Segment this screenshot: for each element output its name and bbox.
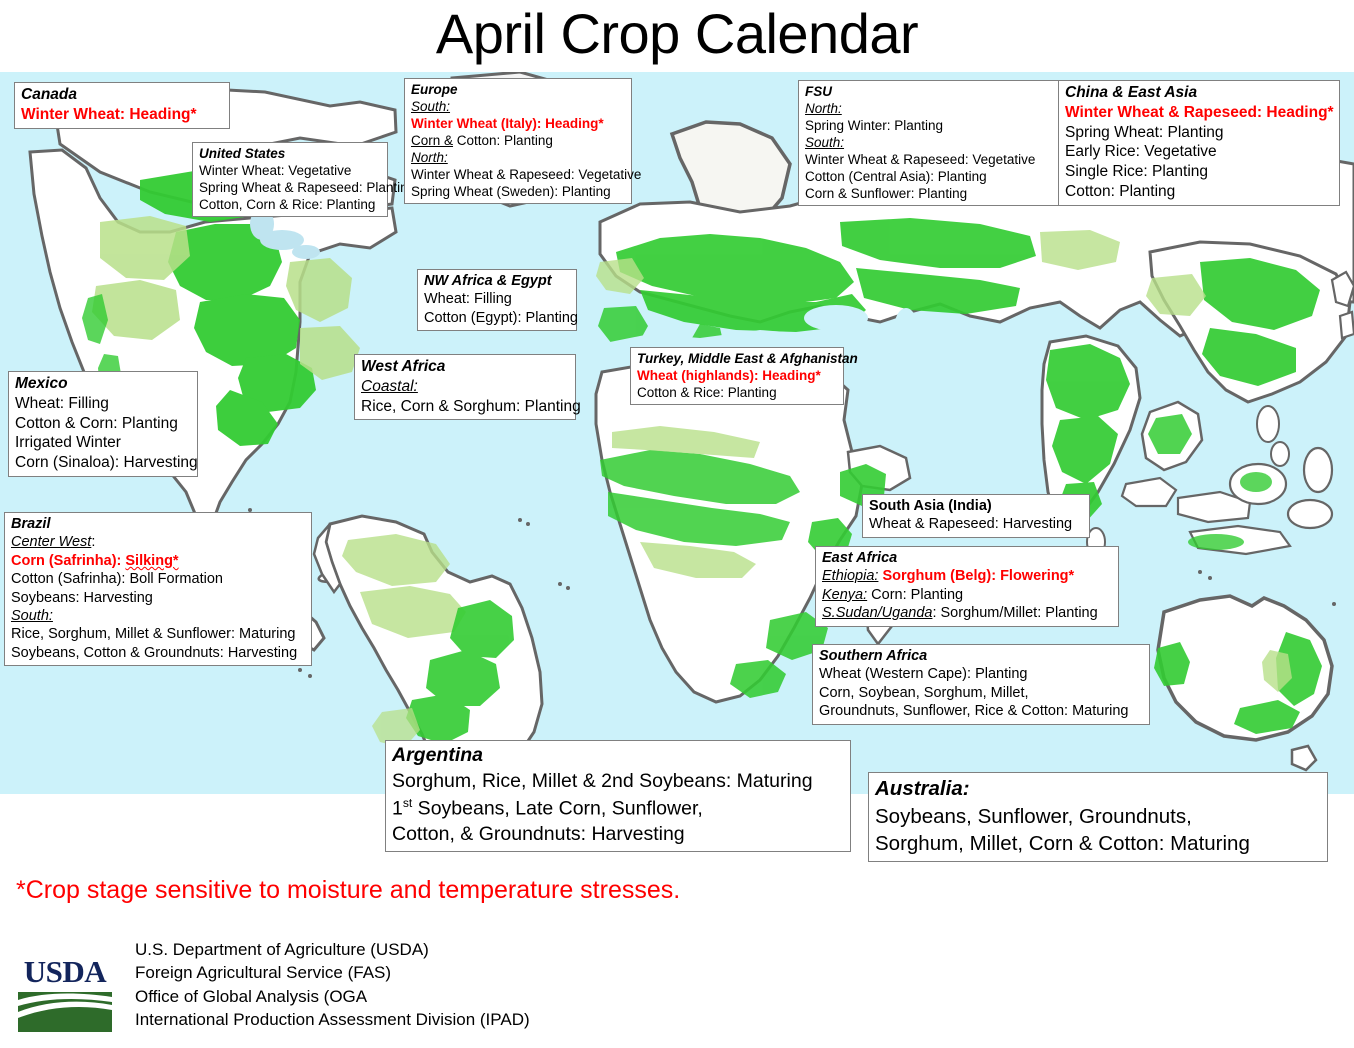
black-sea [804, 305, 868, 331]
callout-mexico-line-1: Cotton & Corn: Planting [15, 414, 191, 434]
credit-line-1: U.S. Department of Agriculture (USDA) [135, 938, 530, 961]
callout-south-asia-india: South Asia (India) Wheat & Rapeseed: Har… [862, 494, 1090, 538]
callout-south-asia-line-0: Wheat & Rapeseed: Harvesting [869, 515, 1083, 533]
credit-line-4: International Production Assessment Divi… [135, 1008, 530, 1031]
callout-mexico: Mexico Wheat: Filling Cotton & Corn: Pla… [8, 371, 198, 477]
caspian-sea [893, 308, 919, 360]
callout-argentina-line-1-rest: Soybeans, Late Corn, Sunflower, [412, 797, 703, 819]
credit-line-2: Foreign Agricultural Service (FAS) [135, 961, 530, 984]
callout-fsu-header: FSU [805, 83, 1053, 100]
callout-fsu-line-4: Cotton (Central Asia): Planting [805, 168, 1053, 185]
callout-brazil: Brazil Center West: Corn (Safrinha): Sil… [4, 512, 312, 666]
callout-fsu-line-3: Winter Wheat & Rapeseed: Vegetative [805, 151, 1053, 168]
callout-south-asia-header: South Asia (India) [869, 497, 1083, 515]
callout-mexico-line-3: Corn (Sinaloa): Harvesting [15, 453, 191, 473]
callout-southern-africa: Southern Africa Wheat (Western Cape): Pl… [812, 644, 1150, 725]
callout-argentina-line-1: 1st Soybeans, Late Corn, Sunflower, [392, 795, 844, 822]
agency-credit: U.S. Department of Agriculture (USDA) Fo… [135, 938, 530, 1032]
callout-fsu-line-1: Spring Winter: Planting [805, 117, 1053, 134]
callout-australia-line-1: Sorghum, Millet, Corn & Cotton: Maturing [875, 830, 1321, 858]
callout-europe-line-0: South: [411, 98, 625, 115]
callout-turkey-middle-east-afghanistan: Turkey, Middle East & Afghanistan Wheat … [630, 347, 844, 405]
callout-southern-africa-line-0: Wheat (Western Cape): Planting [819, 665, 1143, 683]
callout-west-africa-line-0: Coastal: [361, 377, 569, 397]
callout-turkey-line-0: Wheat (highlands): Heading* [637, 367, 837, 384]
callout-mexico-header: Mexico [15, 374, 191, 394]
callout-brazil-line-0-rest: : [91, 534, 95, 550]
callout-canada-line-0: Winter Wheat: Heading* [21, 105, 223, 125]
callout-east-africa: East Africa Ethiopia: Sorghum (Belg): Fl… [815, 546, 1119, 627]
callout-argentina-line-0: Sorghum, Rice, Millet & 2nd Soybeans: Ma… [392, 769, 844, 795]
footnote-asterisk-note: *Crop stage sensitive to moisture and te… [16, 876, 680, 905]
callout-canada: Canada Winter Wheat: Heading* [14, 82, 230, 129]
callout-australia-line-0: Soybeans, Sunflower, Groundnuts, [875, 803, 1321, 831]
callout-argentina-line-2: Cotton, & Groundnuts: Harvesting [392, 822, 844, 848]
callout-west-africa-header: West Africa [361, 357, 569, 377]
callout-east-africa-line-0: Ethiopia: Sorghum (Belg): Flowering* [822, 567, 1112, 585]
callout-nw-africa-egypt: NW Africa & Egypt Wheat: Filling Cotton … [417, 269, 577, 331]
callout-brazil-line-4: South: [11, 607, 305, 625]
callout-east-africa-line-2-rest: : Sorghum/Millet: Planting [932, 605, 1097, 621]
callout-east-africa-line-0-rest: Sorghum (Belg): Flowering* [878, 568, 1074, 584]
callout-united-states-line-0: Winter Wheat: Vegetative [199, 162, 381, 179]
callout-china-east-asia-header: China & East Asia [1065, 83, 1333, 103]
callout-brazil-header: Brazil [11, 515, 305, 533]
callout-united-states-line-2: Cotton, Corn & Rice: Planting [199, 196, 381, 213]
usda-logo-text: USDA [24, 954, 108, 989]
callout-china-east-asia: China & East Asia Winter Wheat & Rapesee… [1058, 80, 1340, 206]
callout-nw-africa-egypt-header: NW Africa & Egypt [424, 272, 570, 290]
callout-europe-header: Europe [411, 81, 625, 98]
callout-turkey-line-1: Cotton & Rice: Planting [637, 384, 837, 401]
callout-east-africa-line-2: S.Sudan/Uganda: Sorghum/Millet: Planting [822, 604, 1112, 622]
usda-logo: USDA [16, 948, 114, 1034]
callout-canada-header: Canada [21, 85, 223, 105]
callout-east-africa-line-0-lead: Ethiopia: [822, 568, 878, 584]
callout-china-east-asia-line-1: Spring Wheat: Planting [1065, 123, 1333, 143]
callout-east-africa-line-2-lead: S.Sudan/Uganda [822, 605, 932, 621]
callout-brazil-line-2: Cotton (Safrinha): Boll Formation [11, 570, 305, 588]
callout-mexico-line-0: Wheat: Filling [15, 394, 191, 414]
callout-united-states-line-1: Spring Wheat & Rapeseed: Planting [199, 179, 381, 196]
callout-europe-line-1: Winter Wheat (Italy): Heading* [411, 115, 625, 132]
callout-china-east-asia-line-0: Winter Wheat & Rapeseed: Heading* [1065, 103, 1333, 123]
callout-china-east-asia-line-2: Early Rice: Vegetative [1065, 142, 1333, 162]
callout-brazil-line-0-lead: Center West [11, 534, 91, 550]
callout-argentina-header: Argentina [392, 743, 844, 769]
callout-europe-line-2-rest: Cotton: Planting [453, 133, 553, 148]
callout-australia-header: Australia: [875, 775, 1321, 803]
callout-brazil-line-0: Center West: [11, 533, 305, 551]
callout-argentina-line-1-sup: st [403, 796, 412, 810]
callout-nw-africa-egypt-line-0: Wheat: Filling [424, 290, 570, 308]
callout-brazil-line-1: Corn (Safrinha): Silking* [11, 552, 305, 570]
callout-east-africa-line-1-lead: Kenya: [822, 587, 867, 603]
callout-southern-africa-line-1: Corn, Soybean, Sorghum, Millet, [819, 684, 1143, 702]
callout-argentina-line-1-lead: 1 [392, 797, 403, 819]
credit-line-3: Office of Global Analysis (OGA [135, 985, 530, 1008]
callout-europe-line-4: Winter Wheat & Rapeseed: Vegetative [411, 166, 625, 183]
callout-brazil-line-1-lead: Corn (Safrinha): [11, 553, 125, 569]
callout-brazil-line-5: Rice, Sorghum, Millet & Sunflower: Matur… [11, 625, 305, 643]
callout-east-africa-header: East Africa [822, 549, 1112, 567]
callout-brazil-line-1-rest: Silking* [125, 553, 178, 569]
callout-turkey-header: Turkey, Middle East & Afghanistan [637, 350, 837, 367]
callout-southern-africa-header: Southern Africa [819, 647, 1143, 665]
callout-china-east-asia-line-3: Single Rice: Planting [1065, 162, 1333, 182]
callout-east-africa-line-1: Kenya: Corn: Planting [822, 586, 1112, 604]
callout-china-east-asia-line-4: Cotton: Planting [1065, 182, 1333, 202]
callout-brazil-line-3: Soybeans: Harvesting [11, 589, 305, 607]
callout-east-africa-line-1-rest: Corn: Planting [867, 587, 963, 603]
callout-fsu-line-0: North: [805, 100, 1053, 117]
callout-west-africa: West Africa Coastal: Rice, Corn & Sorghu… [354, 354, 576, 420]
callout-australia: Australia: Soybeans, Sunflower, Groundnu… [868, 772, 1328, 862]
callout-united-states: United States Winter Wheat: Vegetative S… [192, 142, 388, 217]
callout-fsu: FSU North: Spring Winter: Planting South… [798, 80, 1060, 206]
callout-west-africa-line-1: Rice, Corn & Sorghum: Planting [361, 397, 569, 417]
callout-fsu-line-2: South: [805, 134, 1053, 151]
callout-united-states-header: United States [199, 145, 381, 162]
callout-mexico-line-2: Irrigated Winter [15, 433, 191, 453]
callout-europe: Europe South: Winter Wheat (Italy): Head… [404, 78, 632, 204]
callout-southern-africa-line-2: Groundnuts, Sunflower, Rice & Cotton: Ma… [819, 702, 1143, 720]
page-title: April Crop Calendar [0, 2, 1354, 66]
callout-argentina: Argentina Sorghum, Rice, Millet & 2nd So… [385, 740, 851, 852]
callout-fsu-line-5: Corn & Sunflower: Planting [805, 185, 1053, 202]
callout-brazil-line-6: Soybeans, Cotton & Groundnuts: Harvestin… [11, 644, 305, 662]
callout-europe-line-5: Spring Wheat (Sweden): Planting [411, 183, 625, 200]
callout-europe-line-2-lead: Corn & [411, 133, 453, 148]
callout-nw-africa-egypt-line-1: Cotton (Egypt): Planting [424, 309, 570, 327]
callout-europe-line-2: Corn & Cotton: Planting [411, 132, 625, 149]
callout-europe-line-3: North: [411, 149, 625, 166]
